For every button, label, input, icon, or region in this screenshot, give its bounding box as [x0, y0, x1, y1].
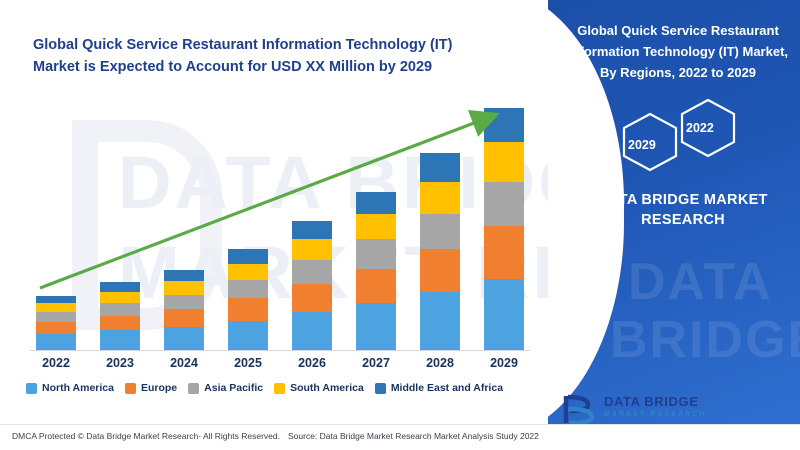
bar-column — [420, 153, 460, 350]
left-chart-panel: DATA BRIDGE MARKET RESEARCH Global Quick… — [0, 0, 560, 450]
hexagon-badges: 2029 2022 — [604, 94, 784, 186]
bar-segment — [420, 182, 460, 214]
bar-segment — [484, 108, 524, 142]
bar-segment — [356, 239, 396, 268]
bridge-logo-icon — [560, 392, 600, 426]
bar-segment — [164, 327, 204, 350]
x-axis-label: 2029 — [484, 356, 524, 378]
bar-segment — [292, 221, 332, 239]
bar-column — [36, 296, 76, 350]
bar-segment — [484, 226, 524, 279]
legend-label: South America — [290, 382, 364, 394]
footer-bar: DMCA Protected © Data Bridge Market Rese… — [0, 424, 800, 450]
legend-swatch-icon — [274, 383, 285, 394]
bar-segment — [228, 298, 268, 320]
legend-item[interactable]: South America — [274, 382, 364, 394]
right-watermark-line2: BRIDGE — [610, 316, 800, 365]
chart-plot-area — [30, 100, 530, 350]
bar-column — [164, 270, 204, 350]
bar-segment — [420, 292, 460, 350]
legend-swatch-icon — [375, 383, 386, 394]
legend-swatch-icon — [188, 383, 199, 394]
bar-segment — [292, 284, 332, 312]
bar-segment — [420, 214, 460, 250]
bar-segment — [420, 153, 460, 181]
x-axis-line — [30, 350, 530, 351]
infographic-root: DATA BRIDGE MARKET RESEARCH Global Quick… — [0, 0, 800, 450]
brand-name-line1: DATA BRIDGE MARKET — [572, 192, 794, 208]
right-brand-panel: DATA BRIDGE Global Quick Service Restaur… — [548, 0, 800, 424]
bar-segment — [164, 309, 204, 326]
legend-item[interactable]: Asia Pacific — [188, 382, 263, 394]
bar-segment — [164, 281, 204, 295]
legend-label: Europe — [141, 382, 177, 394]
legend-item[interactable]: Middle East and Africa — [375, 382, 503, 394]
bar-segment — [164, 295, 204, 310]
right-watermark-line1: DATA — [628, 258, 773, 307]
legend-label: North America — [42, 382, 114, 394]
legend-swatch-icon — [26, 383, 37, 394]
bar-segment — [484, 279, 524, 350]
bar-segment — [484, 182, 524, 226]
bar-segment — [36, 334, 76, 350]
logo-name-bottom: MARKET RESEARCH — [604, 411, 707, 418]
bar-segment — [36, 322, 76, 334]
bar-segment — [100, 316, 140, 331]
bar-segment — [292, 239, 332, 260]
legend-item[interactable]: Europe — [125, 382, 177, 394]
bar-column — [356, 192, 396, 350]
x-axis-label: 2024 — [164, 356, 204, 378]
x-axis-label: 2028 — [420, 356, 460, 378]
bar-segment — [100, 303, 140, 315]
hex-label-2022: 2022 — [686, 121, 714, 135]
bar-segment — [100, 330, 140, 350]
footer-source: Source: Data Bridge Market Research Mark… — [288, 431, 539, 441]
bar-segment — [484, 142, 524, 181]
x-axis-label: 2025 — [228, 356, 268, 378]
bar-segment — [356, 192, 396, 214]
bar-segment — [356, 214, 396, 240]
bar-segment — [164, 270, 204, 281]
bar-column — [484, 108, 524, 350]
legend-label: Middle East and Africa — [391, 382, 503, 394]
x-axis-label: 2027 — [356, 356, 396, 378]
dbmr-logo: DATA BRIDGE MARKET RESEARCH — [560, 392, 710, 428]
bar-segment — [356, 269, 396, 303]
chart-legend: North AmericaEuropeAsia PacificSouth Ame… — [26, 382, 546, 394]
bar-column — [100, 282, 140, 350]
bar-segment — [228, 264, 268, 280]
bar-segment — [36, 303, 76, 312]
bar-segment — [228, 249, 268, 264]
x-axis-label: 2026 — [292, 356, 332, 378]
bar-segment — [292, 260, 332, 283]
bar-column — [292, 221, 332, 350]
bar-segment — [356, 303, 396, 350]
right-panel-title: Global Quick Service Restaurant Informat… — [562, 20, 794, 83]
bar-column — [228, 249, 268, 350]
bar-segment — [36, 296, 76, 303]
logo-name-top: DATA BRIDGE — [604, 394, 698, 409]
x-axis-label: 2023 — [100, 356, 140, 378]
bar-segment — [420, 249, 460, 292]
bar-segment — [36, 312, 76, 322]
x-axis-label: 2022 — [36, 356, 76, 378]
legend-label: Asia Pacific — [204, 382, 263, 394]
x-axis-tick-labels: 20222023202420252026202720282029 — [30, 356, 530, 378]
legend-item[interactable]: North America — [26, 382, 114, 394]
page-title: Global Quick Service Restaurant Informat… — [33, 34, 503, 79]
bar-segment — [100, 292, 140, 303]
bar-segment — [292, 312, 332, 350]
stacked-bars — [30, 100, 530, 350]
bar-segment — [228, 280, 268, 298]
bar-segment — [100, 282, 140, 292]
hex-label-2029: 2029 — [628, 138, 656, 152]
footer-copyright: DMCA Protected © Data Bridge Market Rese… — [12, 431, 280, 441]
bar-segment — [228, 321, 268, 350]
legend-swatch-icon — [125, 383, 136, 394]
brand-name-line2: RESEARCH — [572, 212, 794, 228]
